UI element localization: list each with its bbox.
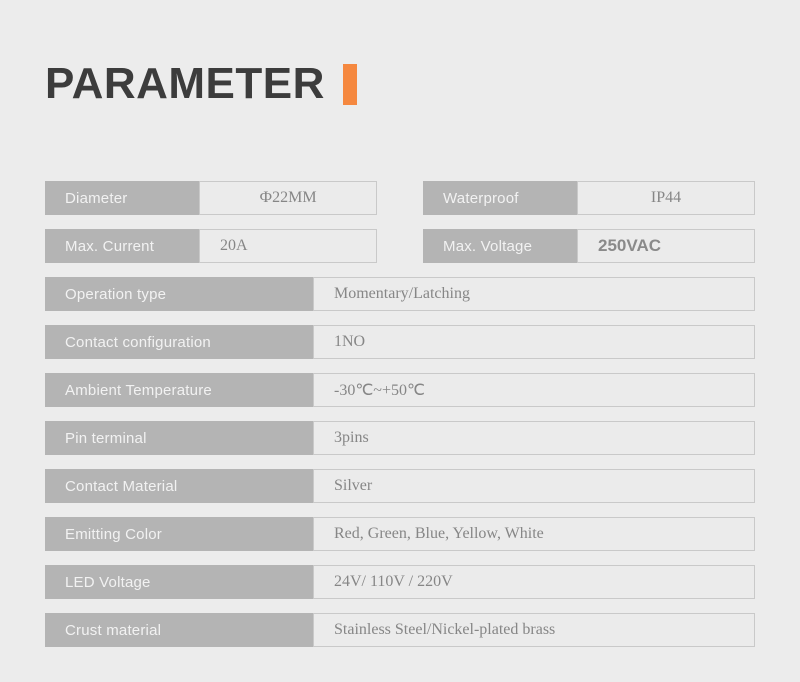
table-row: Contact configuration 1NO	[45, 325, 755, 359]
spec-label: Pin terminal	[45, 421, 313, 455]
spec-value: Ф22MM	[199, 181, 377, 215]
page-title: PARAMETER	[45, 62, 325, 106]
table-row: Ambient Temperature -30℃~+50℃	[45, 373, 755, 407]
spec-label: Diameter	[45, 181, 199, 215]
spec-value: -30℃~+50℃	[313, 373, 755, 407]
spec-label: Max. Voltage	[423, 229, 577, 263]
spec-label: Operation type	[45, 277, 313, 311]
title-accent-bar	[343, 64, 357, 105]
table-row: LED Voltage 24V/ 110V / 220V	[45, 565, 755, 599]
spec-value: 1NO	[313, 325, 755, 359]
spec-pair-right: Max. Voltage 250VAC	[423, 229, 755, 263]
spec-label: Contact configuration	[45, 325, 313, 359]
spec-label: Max. Current	[45, 229, 199, 263]
spec-value: 20A	[199, 229, 377, 263]
table-row: Pin terminal 3pins	[45, 421, 755, 455]
spec-value: 3pins	[313, 421, 755, 455]
spec-value: 24V/ 110V / 220V	[313, 565, 755, 599]
spec-label: Ambient Temperature	[45, 373, 313, 407]
spec-label: Waterproof	[423, 181, 577, 215]
spec-pair-right: Waterproof IP44	[423, 181, 755, 215]
spec-pair-left: Max. Current 20A	[45, 229, 377, 263]
spec-label: Emitting Color	[45, 517, 313, 551]
specification-table: Diameter Ф22MM Waterproof IP44 Max. Curr…	[45, 181, 755, 647]
spec-pair-left: Diameter Ф22MM	[45, 181, 377, 215]
table-row: Diameter Ф22MM Waterproof IP44	[45, 181, 755, 215]
table-row: Crust material Stainless Steel/Nickel-pl…	[45, 613, 755, 647]
table-row: Emitting Color Red, Green, Blue, Yellow,…	[45, 517, 755, 551]
page-title-block: PARAMETER	[45, 62, 357, 106]
table-row: Max. Current 20A Max. Voltage 250VAC	[45, 229, 755, 263]
table-row: Operation type Momentary/Latching	[45, 277, 755, 311]
spec-value: Silver	[313, 469, 755, 503]
spec-value: Momentary/Latching	[313, 277, 755, 311]
spec-label: LED Voltage	[45, 565, 313, 599]
spec-label: Contact Material	[45, 469, 313, 503]
table-row: Contact Material Silver	[45, 469, 755, 503]
spec-value: Stainless Steel/Nickel-plated brass	[313, 613, 755, 647]
spec-value: Red, Green, Blue, Yellow, White	[313, 517, 755, 551]
parameter-spec-page: PARAMETER Diameter Ф22MM Waterproof IP44…	[0, 0, 800, 682]
spec-label: Crust material	[45, 613, 313, 647]
spec-value: IP44	[577, 181, 755, 215]
spec-value: 250VAC	[577, 229, 755, 263]
